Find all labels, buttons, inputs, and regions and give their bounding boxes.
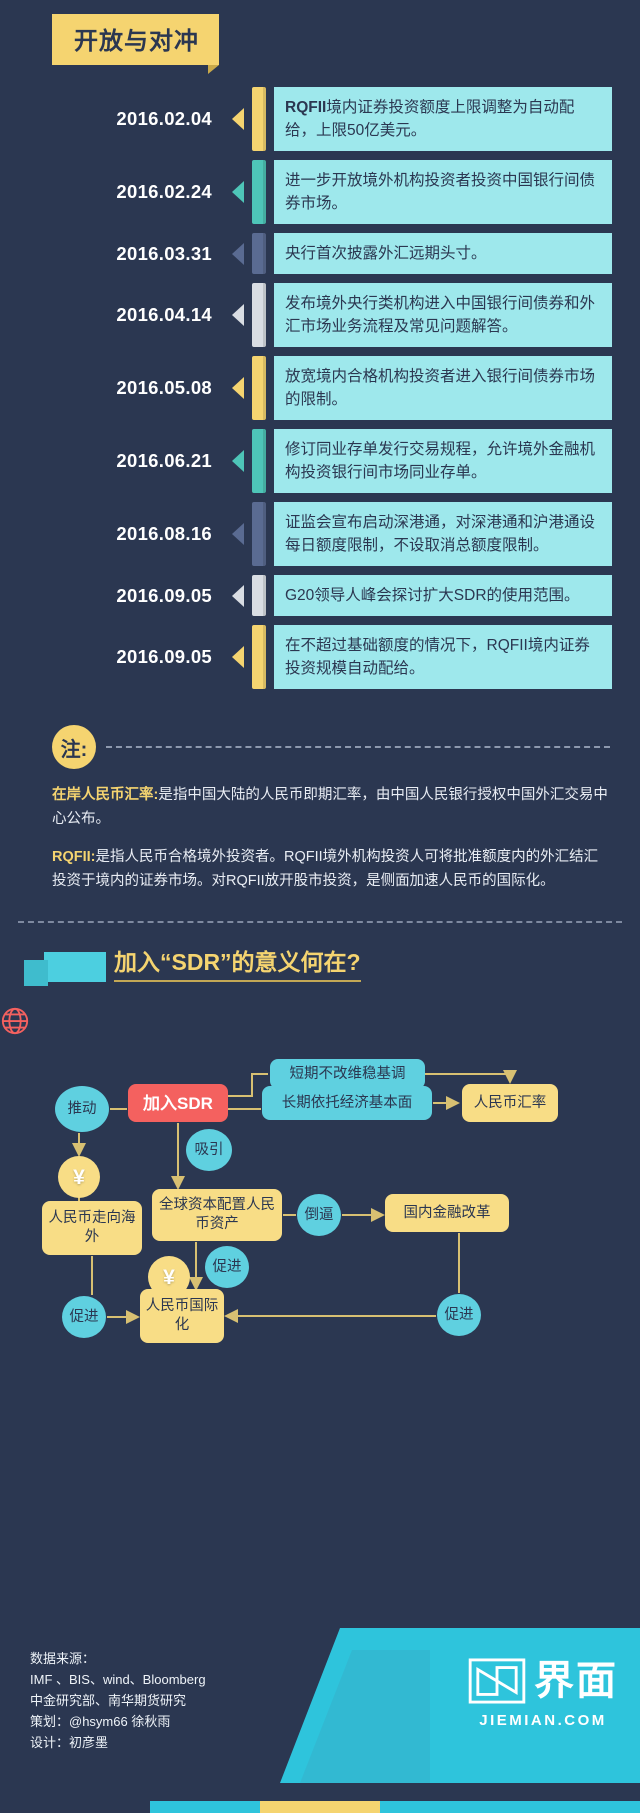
flow-node-guoji: 人民币国际化 xyxy=(140,1289,224,1343)
note-section: 注: 在岸人民币汇率:是指中国大陆的人民币即期汇率，由中国人民银行授权中国外汇交… xyxy=(0,725,640,893)
timeline-date: 2016.02.24 xyxy=(0,160,230,224)
timeline-row: 2016.09.05G20领导人峰会探讨扩大SDR的使用范围。 xyxy=(0,575,640,616)
timeline-date: 2016.08.16 xyxy=(0,502,230,566)
brand-logo-top: 界面 xyxy=(468,1658,618,1704)
flow-node-yen1: ¥ xyxy=(58,1156,100,1198)
timeline-text: 发布境外央行类机构进入中国银行间债券和外汇市场业务流程及常见问题解答。 xyxy=(274,283,612,347)
timeline-color-bar xyxy=(252,502,266,566)
timeline-date: 2016.04.14 xyxy=(0,283,230,347)
sdr-section-tag xyxy=(44,952,106,982)
footer-source-line: 中金研究部、南华期货研究 xyxy=(30,1690,206,1711)
timeline-row: 2016.09.05在不超过基础额度的情况下，RQFII境内证券投资规模自动配给… xyxy=(0,625,640,689)
flow-node-cujin1: 促进 xyxy=(205,1246,249,1288)
note-dashed-rule xyxy=(106,746,610,748)
footer-source-line: 数据来源： xyxy=(30,1648,206,1669)
timeline-row: 2016.05.08放宽境内合格机构投资者进入银行间债券市场的限制。 xyxy=(0,356,640,420)
timeline-text: 进一步开放境外机构投资者投资中国银行间债券市场。 xyxy=(274,160,612,224)
timeline-text: G20领导人峰会探讨扩大SDR的使用范围。 xyxy=(274,575,612,616)
timeline-section: 开放与对冲 2016.02.04RQFII境内证券投资额度上限调整为自动配给，上… xyxy=(0,0,640,689)
timeline-text: 央行首次披露外汇远期头寸。 xyxy=(274,233,612,274)
timeline-list: 2016.02.04RQFII境内证券投资额度上限调整为自动配给，上限50亿美元… xyxy=(0,87,640,689)
timeline-color-bar xyxy=(252,233,266,274)
brand-name-cn: 界面 xyxy=(534,1659,618,1703)
sdr-section: 加入“SDR”的意义何在? xyxy=(0,949,640,982)
timeline-arrow xyxy=(230,160,252,224)
timeline-arrow xyxy=(230,502,252,566)
note-paragraph: RQFII:是指人民币合格境外投资者。RQFII境外机构投资人可将批准额度内的外… xyxy=(52,845,610,893)
flow-node-xiyin: 吸引 xyxy=(186,1129,232,1171)
timeline-text: 证监会宣布启动深港通，对深港通和沪港通设每日额度限制，不设取消总额度限制。 xyxy=(274,502,612,566)
timeline-date: 2016.05.08 xyxy=(0,356,230,420)
timeline-row: 2016.06.21修订同业存单发行交易规程，允许境外金融机构投资银行间市场同业… xyxy=(0,429,640,493)
timeline-row: 2016.04.14发布境外央行类机构进入中国银行间债券和外汇市场业务流程及常见… xyxy=(0,283,640,347)
timeline-color-bar xyxy=(252,429,266,493)
footer-source-line: 策划：@hsym66 徐秋雨 xyxy=(30,1711,206,1732)
footer: 数据来源：IMF 、BIS、wind、Bloomberg中金研究部、南华期货研究… xyxy=(0,1628,640,1813)
globe-icon xyxy=(0,1006,30,1036)
timeline-date: 2016.03.31 xyxy=(0,233,230,274)
timeline-section-tag: 开放与对冲 xyxy=(52,14,219,65)
brand-name-en: JIEMIAN.COM xyxy=(479,1712,607,1729)
timeline-color-bar xyxy=(252,625,266,689)
sdr-title: 加入“SDR”的意义何在? xyxy=(114,949,361,982)
timeline-arrow xyxy=(230,283,252,347)
timeline-color-bar xyxy=(252,575,266,616)
note-badge: 注: xyxy=(52,725,96,769)
timeline-date: 2016.09.05 xyxy=(0,625,230,689)
timeline-arrow xyxy=(230,575,252,616)
flow-node-gaige: 国内金融改革 xyxy=(385,1194,509,1232)
sdr-header: 加入“SDR”的意义何在? xyxy=(44,949,640,982)
timeline-text: 放宽境内合格机构投资者进入银行间债券市场的限制。 xyxy=(274,356,612,420)
flow-node-zouchuqu: 人民币走向海外 xyxy=(42,1201,142,1255)
timeline-color-bar xyxy=(252,160,266,224)
flow-node-huilv: 人民币汇率 xyxy=(462,1084,558,1122)
timeline-arrow xyxy=(230,233,252,274)
flow-node-tuidong: 推动 xyxy=(55,1086,109,1132)
flow-node-sdr: 加入SDR xyxy=(128,1084,228,1122)
timeline-color-bar xyxy=(252,283,266,347)
sdr-flow-diagram: 推动加入SDR短期不改维稳基调长期依托经济基本面人民币汇率吸引¥全球资本配置人民… xyxy=(0,1006,640,1336)
timeline-row: 2016.02.04RQFII境内证券投资额度上限调整为自动配给，上限50亿美元… xyxy=(0,87,640,151)
timeline-color-bar xyxy=(252,87,266,151)
note-paragraph: 在岸人民币汇率:是指中国大陆的人民币即期汇率，由中国人民银行授权中国外汇交易中心… xyxy=(52,783,610,831)
timeline-text: 修订同业存单发行交易规程，允许境外金融机构投资银行间市场同业存单。 xyxy=(274,429,612,493)
timeline-row: 2016.02.24进一步开放境外机构投资者投资中国银行间债券市场。 xyxy=(0,160,640,224)
timeline-row: 2016.03.31央行首次披露外汇远期头寸。 xyxy=(0,233,640,274)
note-body: 在岸人民币汇率:是指中国大陆的人民币即期汇率，由中国人民银行授权中国外汇交易中心… xyxy=(52,783,610,893)
note-keyword: RQFII: xyxy=(52,849,96,865)
timeline-date: 2016.09.05 xyxy=(0,575,230,616)
timeline-row: 2016.08.16证监会宣布启动深港通，对深港通和沪港通设每日额度限制，不设取… xyxy=(0,502,640,566)
jiemian-logo-icon xyxy=(468,1658,526,1704)
timeline-arrow xyxy=(230,429,252,493)
flow-node-cujin3: 促进 xyxy=(437,1294,481,1336)
note-header: 注: xyxy=(52,725,610,769)
brand-logo: 界面 JIEMIAN.COM xyxy=(468,1658,618,1729)
timeline-date: 2016.06.21 xyxy=(0,429,230,493)
flow-node-duanqi: 短期不改维稳基调 xyxy=(270,1059,425,1089)
timeline-arrow xyxy=(230,87,252,151)
timeline-text: 在不超过基础额度的情况下，RQFII境内证券投资规模自动配给。 xyxy=(274,625,612,689)
footer-color-stripes xyxy=(0,1801,640,1813)
timeline-color-bar xyxy=(252,356,266,420)
footer-source-text: 数据来源：IMF 、BIS、wind、Bloomberg中金研究部、南华期货研究… xyxy=(30,1648,206,1753)
flow-node-changqi: 长期依托经济基本面 xyxy=(262,1086,432,1120)
timeline-arrow xyxy=(230,625,252,689)
section-divider xyxy=(18,921,622,923)
note-keyword: 在岸人民币汇率: xyxy=(52,787,158,803)
footer-source-line: 设计：初彦墨 xyxy=(30,1732,206,1753)
flow-node-daobi: 倒逼 xyxy=(297,1194,341,1236)
timeline-text: RQFII境内证券投资额度上限调整为自动配给，上限50亿美元。 xyxy=(274,87,612,151)
flow-node-quanqiu: 全球资本配置人民币资产 xyxy=(152,1189,282,1241)
timeline-arrow xyxy=(230,356,252,420)
footer-source-line: IMF 、BIS、wind、Bloomberg xyxy=(30,1669,206,1690)
flow-node-cujin2: 促进 xyxy=(62,1296,106,1338)
timeline-date: 2016.02.04 xyxy=(0,87,230,151)
